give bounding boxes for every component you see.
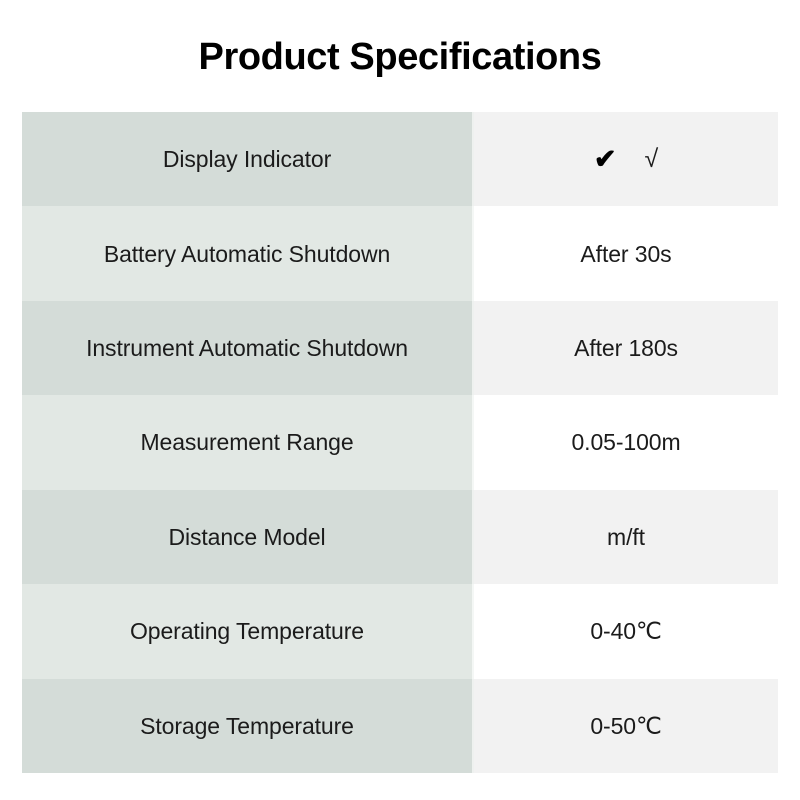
spec-value: ✔ √ xyxy=(472,112,778,206)
spec-value: 0-40℃ xyxy=(472,584,778,678)
spec-value: After 180s xyxy=(472,301,778,395)
table-row: Measurement Range 0.05-100m xyxy=(22,395,778,489)
spec-label: Instrument Automatic Shutdown xyxy=(22,301,472,395)
check-thin-icon: √ xyxy=(644,147,658,172)
page-title: Product Specifications xyxy=(0,34,800,80)
spec-value: After 30s xyxy=(472,206,778,300)
spec-label: Battery Automatic Shutdown xyxy=(22,206,472,300)
check-bold-icon: ✔ xyxy=(594,146,617,173)
product-specifications-page: Product Specifications Display Indicator… xyxy=(0,0,800,800)
table-row: Distance Model m/ft xyxy=(22,490,778,584)
table-row: Display Indicator ✔ √ xyxy=(22,112,778,206)
spec-label: Measurement Range xyxy=(22,395,472,489)
spec-label: Storage Temperature xyxy=(22,679,472,773)
table-row: Battery Automatic Shutdown After 30s xyxy=(22,206,778,300)
spec-value: 0.05-100m xyxy=(472,395,778,489)
specifications-table: Display Indicator ✔ √ Battery Automatic … xyxy=(22,112,778,773)
table-row: Operating Temperature 0-40℃ xyxy=(22,584,778,678)
spec-value: m/ft xyxy=(472,490,778,584)
spec-label: Distance Model xyxy=(22,490,472,584)
spec-value: 0-50℃ xyxy=(472,679,778,773)
spec-label: Operating Temperature xyxy=(22,584,472,678)
spec-label: Display Indicator xyxy=(22,112,472,206)
check-group: ✔ √ xyxy=(594,146,658,173)
table-row: Storage Temperature 0-50℃ xyxy=(22,679,778,773)
table-row: Instrument Automatic Shutdown After 180s xyxy=(22,301,778,395)
